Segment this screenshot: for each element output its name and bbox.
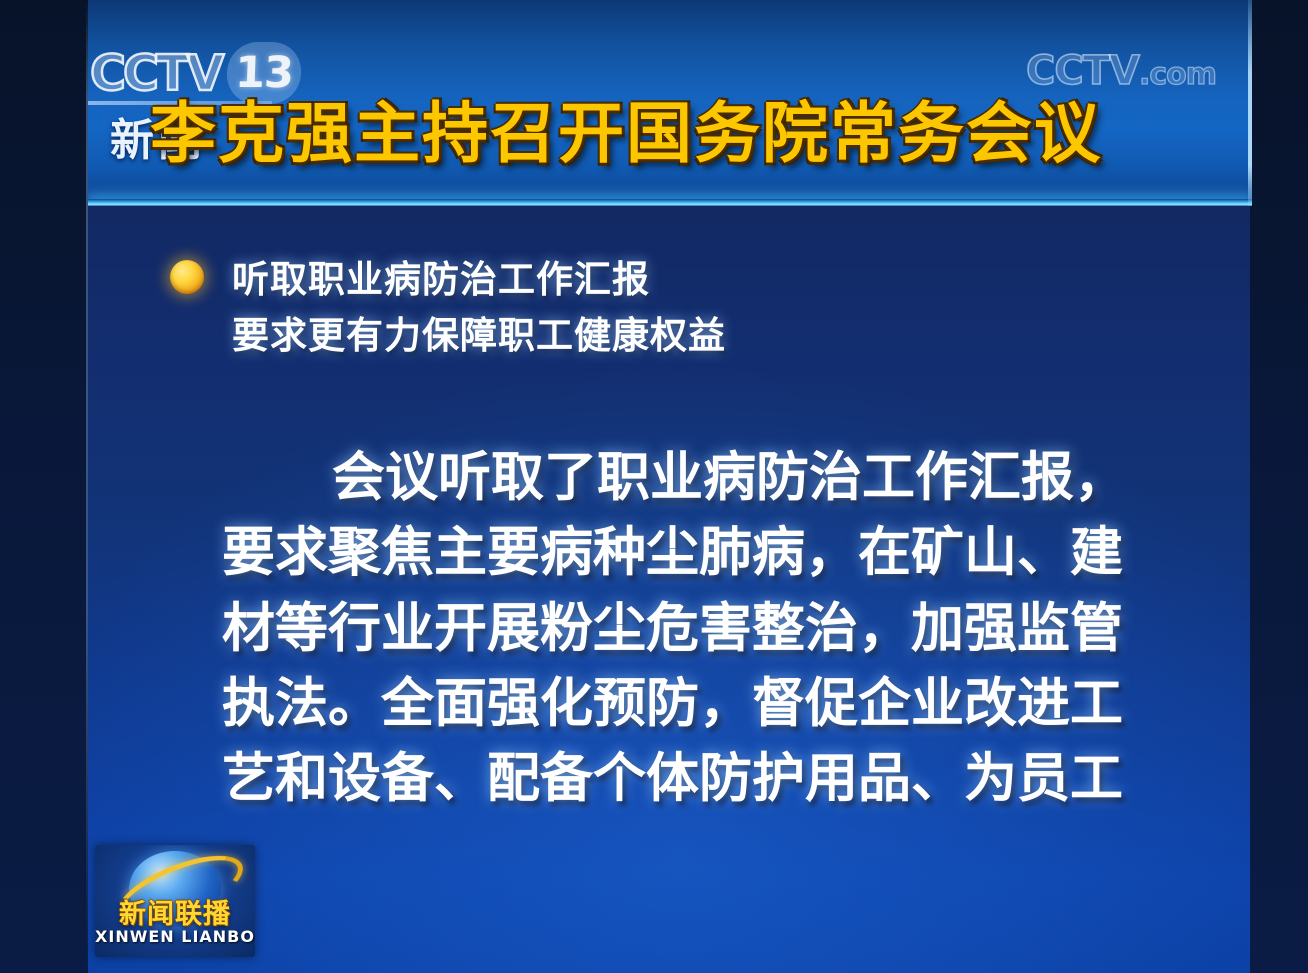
left-edge-band [0, 0, 88, 973]
body-line: 会议听取了职业病防治工作汇报， [222, 440, 1172, 515]
subtitle-block: 听取职业病防治工作汇报 要求更有力保障职工健康权益 [170, 252, 726, 364]
body-line: 材等行业开展粉尘危害整治，加强监管 [222, 591, 1172, 666]
body-paragraph: 会议听取了职业病防治工作汇报， 要求聚焦主要病种尘肺病，在矿山、建 材等行业开展… [222, 440, 1172, 816]
watermark-domain-text: .com [1139, 57, 1216, 92]
right-edge-band [1250, 0, 1308, 973]
program-title-cn: 新闻联播 [95, 892, 255, 931]
body-line: 要求聚焦主要病种尘肺病，在矿山、建 [222, 515, 1172, 590]
broadcast-screen: CCTV 13 新闻 CCTV.com 李克强主持召开国务院常务会议 听取职业病… [0, 0, 1308, 973]
cctv-dot-com-watermark: CCTV.com [1026, 48, 1216, 94]
cctv-wordmark: CCTV [88, 49, 221, 98]
subtitle-line: 要求更有力保障职工健康权益 [232, 308, 726, 364]
channel-number-label: 13 [235, 52, 294, 95]
gold-dot-icon [170, 260, 204, 294]
program-logo-bug: 新闻联播 XINWEN LIANBO [95, 845, 255, 957]
watermark-main-text: CCTV [1026, 48, 1139, 94]
subtitle-line: 听取职业病防治工作汇报 [232, 252, 726, 308]
body-line: 执法。全面强化预防，督促企业改进工 [222, 666, 1172, 741]
banner-right-border [1248, 0, 1252, 206]
subtitle-lines: 听取职业病防治工作汇报 要求更有力保障职工健康权益 [232, 252, 726, 364]
body-line: 艺和设备、配备个体防护用品、为员工 [222, 741, 1172, 816]
page-title: 李克强主持召开国务院常务会议 [150, 101, 1102, 167]
program-title-en: XINWEN LIANBO [95, 927, 255, 946]
